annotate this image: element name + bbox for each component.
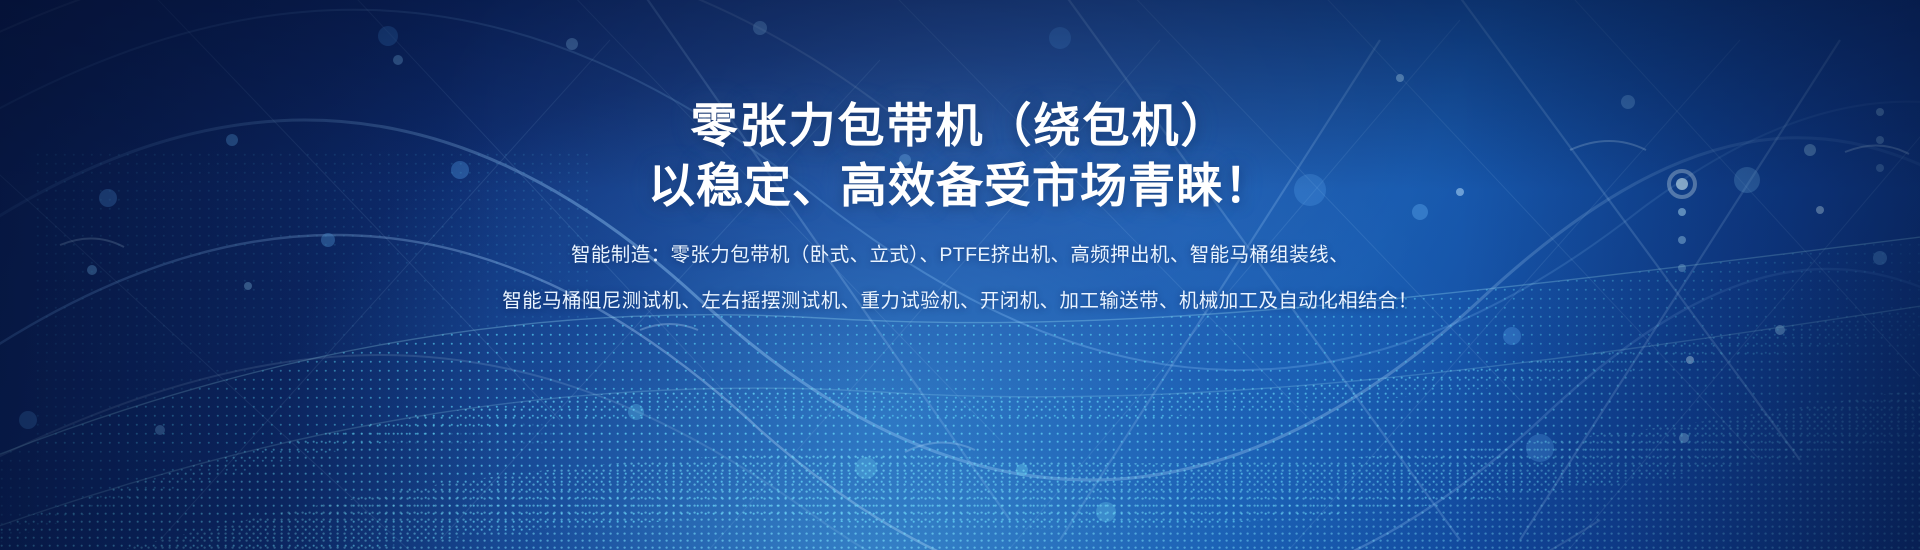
banner-subtitle-line-2: 智能马桶阻尼测试机、左右摇摆测试机、重力试验机、开闭机、加工输送带、机械加工及自… [502, 290, 1417, 313]
banner-subtitle-line-1: 智能制造：零张力包带机（卧式、立式）、PTFE挤出机、高频押出机、智能马桶组装线… [571, 244, 1349, 267]
banner-content: 零张力包带机（绕包机） 以稳定、高效备受市场青睐！ 智能制造：零张力包带机（卧式… [0, 0, 1920, 550]
banner-title-line-2: 以稳定、高效备受市场青睐！ [648, 156, 1272, 216]
banner-title-line-1: 零张力包带机（绕包机） [691, 96, 1230, 156]
hero-banner: 零张力包带机（绕包机） 以稳定、高效备受市场青睐！ 智能制造：零张力包带机（卧式… [0, 0, 1920, 550]
